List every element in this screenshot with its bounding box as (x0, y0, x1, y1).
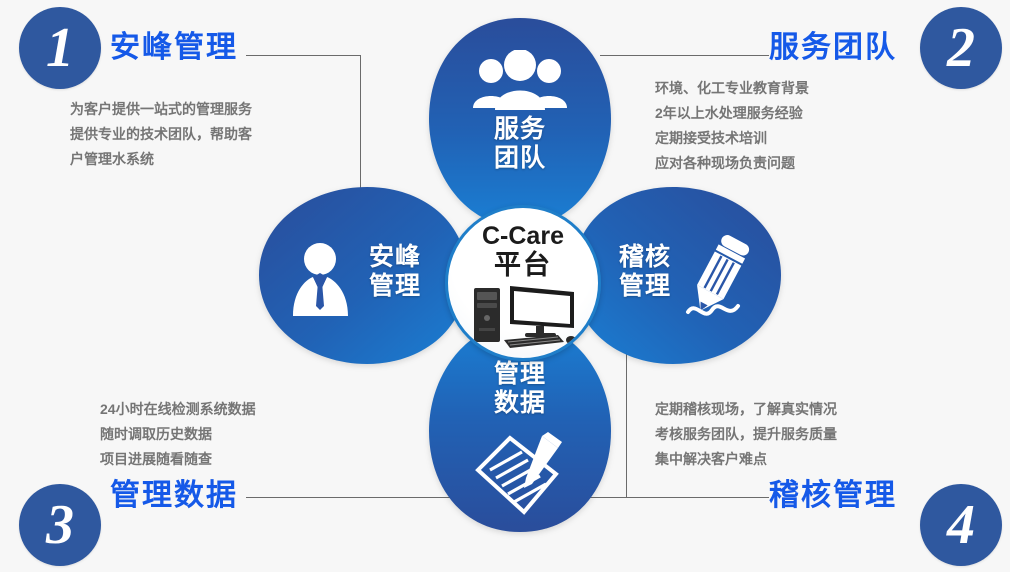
number-badge-1: 1 (19, 7, 101, 89)
section-body-3-line-1: 24小时在线检测系统数据 (100, 397, 256, 422)
number-badge-2: 2 (920, 7, 1002, 89)
section-body-3-line-2: 随时调取历史数据 (100, 422, 256, 447)
center-hub-line-1: C-Care (448, 222, 598, 250)
section-title-anfeng-management: 安峰管理 (110, 22, 238, 66)
section-body-3: 24小时在线检测系统数据 随时调取历史数据 项目进展随看随查 (100, 397, 256, 472)
center-hub-ccare-platform[interactable]: C-Care 平台 (445, 205, 601, 361)
petal-diagram: 服务 团队 管理 数据 (255, 15, 785, 535)
section-title-audit-management: 稽核管理 (769, 470, 897, 514)
number-badge-3: 3 (19, 484, 101, 566)
infographic-canvas: 1 2 3 4 安峰管理 服务团队 管理数据 稽核管理 为客户提供一站式的管理服… (0, 0, 1010, 572)
section-body-3-line-3: 项目进展随看随查 (100, 447, 256, 472)
section-body-1: 为客户提供一站式的管理服务 提供专业的技术团队，帮助客 户管理水系统 (70, 97, 252, 172)
section-body-1-line-1: 为客户提供一站式的管理服务 (70, 97, 252, 122)
petal-audit-management[interactable] (570, 183, 785, 368)
petal-anfeng-management[interactable] (255, 183, 470, 368)
number-badge-4: 4 (920, 484, 1002, 566)
desktop-computer-icon (470, 282, 578, 350)
section-body-1-line-2: 提供专业的技术团队，帮助客 (70, 122, 252, 147)
center-hub-line-2: 平台 (448, 250, 598, 280)
section-body-1-line-3: 户管理水系统 (70, 147, 252, 172)
section-title-service-team: 服务团队 (769, 22, 897, 66)
center-hub-text: C-Care 平台 (448, 222, 598, 280)
section-title-management-data: 管理数据 (110, 470, 238, 514)
